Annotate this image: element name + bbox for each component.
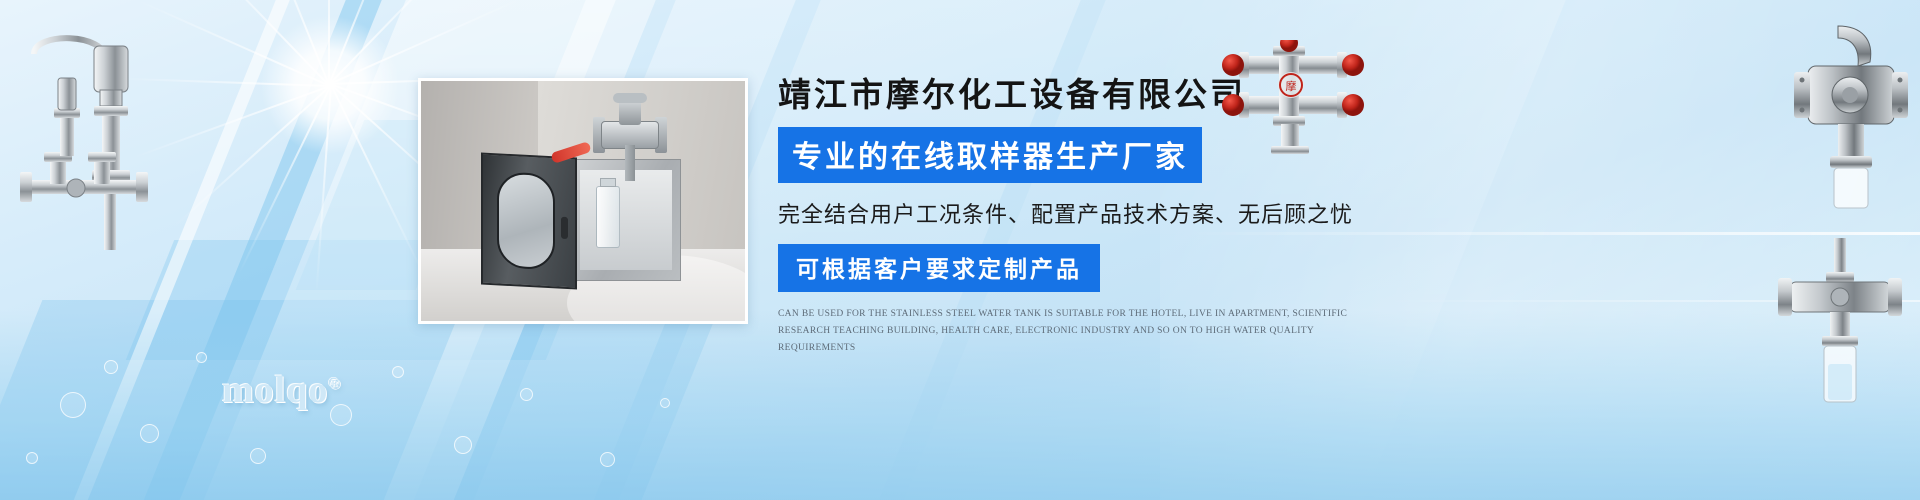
- sunburst-core: [260, 15, 400, 155]
- left-manifold-icon: [10, 20, 170, 250]
- wellhead-manifold-icon: 摩: [1215, 40, 1385, 160]
- cabinet-door: [481, 152, 577, 289]
- cta-text: 可根据客户要求定制产品: [796, 250, 1082, 284]
- equipment-illustration-bottom-right: [1770, 238, 1910, 418]
- promo-banner: 靖江市摩尔化工设备有限公司 专业的在线取样器生产厂家 完全结合用户工况条件、配置…: [0, 0, 1920, 500]
- sample-bottle: [596, 186, 620, 248]
- sampling-valve: [593, 99, 667, 165]
- headline-band: 专业的在线取样器生产厂家: [778, 127, 1202, 183]
- headline-text: 专业的在线取样器生产厂家: [792, 132, 1188, 176]
- equipment-illustration-top-right: [1790, 22, 1920, 222]
- watermark-logo: molqo®: [222, 368, 341, 412]
- svg-text:摩: 摩: [1286, 79, 1297, 93]
- ball-valve-icon: [1790, 22, 1920, 222]
- registered-mark-icon: ®: [328, 375, 341, 392]
- cta-band[interactable]: 可根据客户要求定制产品: [778, 244, 1100, 292]
- english-description: CAN BE USED FOR THE STAINLESS STEEL WATE…: [778, 306, 1378, 356]
- product-photo: [421, 81, 745, 321]
- equipment-illustration-left: [10, 20, 170, 250]
- subheadline-text: 完全结合用户工况条件、配置产品技术方案、无后顾之忧: [778, 197, 1438, 229]
- sampling-valve-icon: [1770, 238, 1910, 418]
- equipment-illustration-christmas-tree: 摩: [1215, 40, 1385, 160]
- watermark-text: molqo: [222, 369, 328, 411]
- bg-band-lower: [0, 300, 722, 500]
- product-photo-frame: [418, 78, 748, 324]
